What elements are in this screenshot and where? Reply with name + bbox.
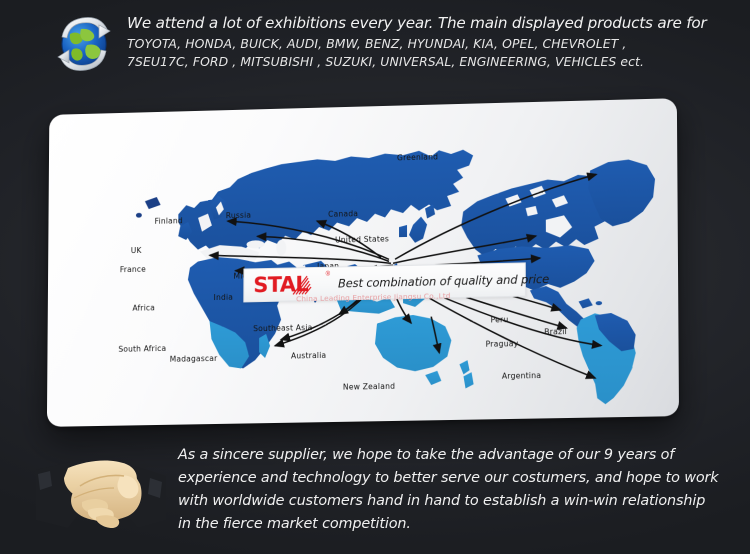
map-label-brazil: Brazil <box>544 327 567 337</box>
map-label-united-states: United States <box>335 234 389 244</box>
footer-line-1: As a sincere supplier, we hope to take t… <box>178 444 698 467</box>
handshake-icon <box>36 446 166 538</box>
footer-line-4: in the fierce market competition. <box>178 513 698 536</box>
map-label-south-africa: South Africa <box>118 344 166 354</box>
brand-logo-bar: STAL ® Best combination of quality and p… <box>243 262 526 302</box>
footer-banner: As a sincere supplier, we hope to take t… <box>0 436 750 554</box>
header-text-block: We attend a lot of exhibitions every yea… <box>127 12 707 71</box>
registered-trademark-icon: ® <box>326 272 330 278</box>
map-label-greenland: Greenland <box>397 152 438 162</box>
map-label-india: India <box>214 293 234 302</box>
footer-line-2: experience and technology to better serv… <box>178 467 698 490</box>
footer-line-3: with worldwide customers hand in hand to… <box>178 490 698 513</box>
map-label-france: France <box>120 265 146 275</box>
map-label-finland: Finland <box>155 216 183 226</box>
header-banner: We attend a lot of exhibitions every yea… <box>0 0 750 92</box>
brand-tagline: Best combination of quality and price <box>338 272 549 291</box>
map-inner: Greenland Canada United States Finland R… <box>47 98 679 427</box>
map-label-africa: Africa <box>132 303 155 312</box>
map-panel: Greenland Canada United States Finland R… <box>0 88 750 436</box>
map-label-new-zealand: New Zealand <box>343 382 395 392</box>
footer-text-block: As a sincere supplier, we hope to take t… <box>178 444 698 536</box>
map-label-uk: UK <box>131 246 142 255</box>
map-label-russia: Russia <box>226 211 251 221</box>
world-map-graphic <box>61 111 667 416</box>
header-brand-line-2: 7SEU17C, FORD , MITSUBISHI , SUZUKI, UNI… <box>127 53 707 71</box>
map-label-argentina: Argentina <box>502 371 541 381</box>
map-label-southeast-asia: Southeast Asia <box>253 323 312 333</box>
header-headline: We attend a lot of exhibitions every yea… <box>127 12 707 35</box>
map-label-madagascar: Madagascar <box>170 354 218 364</box>
map-label-praguay: Praguay <box>486 339 519 349</box>
map-label-peru: Peru <box>491 315 509 324</box>
map-card: Greenland Canada United States Finland R… <box>47 98 679 427</box>
map-label-australia: Australia <box>291 351 326 361</box>
globe-icon <box>53 13 115 75</box>
header-brand-line-1: TOYOTA, HONDA, BUICK, AUDI, BMW, BENZ, H… <box>127 35 707 53</box>
map-label-canada: Canada <box>328 209 358 219</box>
